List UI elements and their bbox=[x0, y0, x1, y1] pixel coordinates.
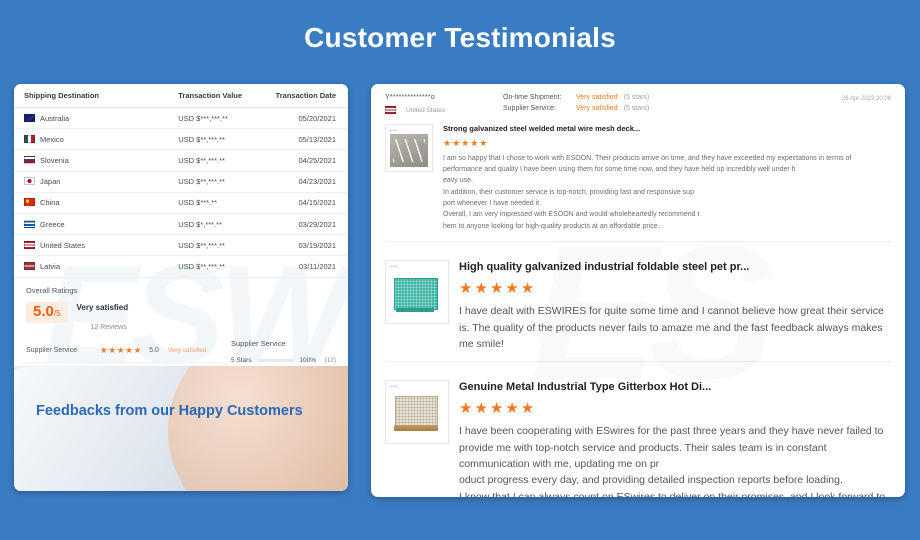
destination-label: United States bbox=[40, 241, 85, 250]
review-score-line: Supplier Service:Very satisfied(5 stars) bbox=[503, 105, 842, 112]
reviewer-name: Y**************o bbox=[385, 94, 503, 101]
review-stars: ★★★★★ bbox=[459, 279, 891, 297]
cell-destination: Mexico bbox=[14, 129, 168, 150]
flag-icon bbox=[24, 262, 35, 270]
cell-destination: Latvia bbox=[14, 256, 168, 277]
left-panel: ESW Shipping Destination Transaction Val… bbox=[14, 84, 348, 491]
table-header-row: Shipping Destination Transaction Value T… bbox=[14, 84, 348, 108]
criterion-score: 5.0 bbox=[149, 347, 159, 354]
product-image bbox=[390, 134, 428, 167]
table-row: GreeceUSD $*,***.**03/29/2021 bbox=[14, 213, 348, 234]
criterion-label: Supplier Service bbox=[26, 347, 100, 354]
review-stars: ★★★★★ bbox=[459, 399, 891, 417]
product-thumbnail[interactable]: esoon bbox=[385, 380, 449, 444]
transactions-table: Shipping Destination Transaction Value T… bbox=[14, 84, 348, 278]
score-summary: 5.0/5 Very satisfied 12 Reviews bbox=[26, 302, 336, 331]
destination-label: Slovenia bbox=[40, 156, 69, 165]
review-content: Strong galvanized steel welded metal wir… bbox=[433, 124, 891, 232]
flag-icon bbox=[24, 198, 35, 206]
cell-destination: Australia bbox=[14, 108, 168, 129]
review-item: esoonGenuine Metal Industrial Type Gitte… bbox=[371, 362, 905, 497]
cell-date: 04/23/2021 bbox=[257, 171, 348, 192]
cell-date: 03/29/2021 bbox=[257, 213, 348, 234]
cell-value: USD $**,***.** bbox=[168, 256, 257, 277]
cell-value: USD $**,***.** bbox=[168, 235, 257, 256]
score-value: Very satisfied bbox=[576, 105, 618, 112]
column-header-date: Transaction Date bbox=[257, 84, 348, 108]
criterion-stars: ★★★★★ bbox=[100, 345, 142, 356]
score-stars-note: (5 stars) bbox=[624, 94, 650, 101]
cell-destination: United States bbox=[14, 235, 168, 256]
score-key: Supplier Service: bbox=[503, 105, 576, 112]
cell-destination: Japan bbox=[14, 171, 168, 192]
cell-date: 03/11/2021 bbox=[257, 256, 348, 277]
destination-label: China bbox=[40, 198, 60, 207]
review-stars: ★★★★★ bbox=[443, 138, 891, 149]
review-body: esoonStrong galvanized steel welded meta… bbox=[385, 124, 891, 232]
table-row: ChinaUSD $***.**04/15/2021 bbox=[14, 192, 348, 213]
photo-caption: Feedbacks from our Happy Customers bbox=[36, 403, 303, 419]
destination-label: Japan bbox=[40, 177, 60, 186]
table-row: AustraliaUSD $***,***.**05/20/2021 bbox=[14, 108, 348, 129]
flag-icon bbox=[385, 106, 396, 114]
cell-value: USD $**,***.** bbox=[168, 150, 257, 171]
flag-icon bbox=[24, 177, 35, 185]
thumbnail-tag: esoon bbox=[389, 128, 397, 132]
cell-destination: Slovenia bbox=[14, 150, 168, 171]
review-text: I am so happy that I chose to work with … bbox=[443, 153, 891, 232]
cell-value: USD $***,***.** bbox=[168, 108, 257, 129]
product-image bbox=[390, 390, 444, 439]
review-header: Y**************oUnited StatesOn-time Shi… bbox=[385, 94, 891, 116]
cell-value: USD $*,***.** bbox=[168, 213, 257, 234]
testimonials-page: Customer Testimonials ESW Shipping Desti… bbox=[0, 0, 920, 540]
review-content: Genuine Metal Industrial Type Gitterbox … bbox=[449, 380, 891, 497]
review-item: Y**************oUnited StatesOn-time Shi… bbox=[371, 84, 905, 232]
cell-date: 04/15/2021 bbox=[257, 192, 348, 213]
page-title: Customer Testimonials bbox=[0, 22, 920, 54]
review-date: 26 Apr 2023 20:06 bbox=[842, 94, 891, 102]
review-scores: On-time Shipment:Very satisfied(5 stars)… bbox=[503, 94, 842, 116]
satisfaction-label: Very satisfied bbox=[77, 303, 141, 312]
review-body: esoonHigh quality galvanized industrial … bbox=[385, 260, 891, 352]
breakdown-count: (12) bbox=[316, 357, 336, 364]
review-score-line: On-time Shipment:Very satisfied(5 stars) bbox=[503, 94, 842, 101]
destination-label: Latvia bbox=[40, 262, 60, 271]
reviewer-info: Y**************oUnited States bbox=[385, 94, 503, 114]
cell-date: 05/20/2021 bbox=[257, 108, 348, 129]
breakdown-row: 5 Stars100%(12) bbox=[231, 354, 336, 368]
score-denominator: /5 bbox=[54, 309, 61, 318]
product-image bbox=[390, 270, 444, 319]
cell-value: USD $***.** bbox=[168, 192, 257, 213]
happy-customers-photo: Feedbacks from our Happy Customers bbox=[14, 366, 348, 491]
table-row: MexicoUSD $**,***.**05/13/2021 bbox=[14, 129, 348, 150]
table-row: LatviaUSD $**,***.**03/11/2021 bbox=[14, 256, 348, 277]
cell-destination: Greece bbox=[14, 213, 168, 234]
reviews-count: 12 Reviews bbox=[77, 314, 141, 331]
table-row: United StatesUSD $**,***.**03/19/2021 bbox=[14, 235, 348, 256]
cell-destination: China bbox=[14, 192, 168, 213]
score-key: On-time Shipment: bbox=[503, 94, 576, 101]
destination-label: Greece bbox=[40, 220, 65, 229]
breakdown-bar-track bbox=[258, 359, 294, 363]
table-row: JapanUSD $**,***.**04/23/2021 bbox=[14, 171, 348, 192]
cell-date: 03/19/2021 bbox=[257, 235, 348, 256]
review-item: esoonHigh quality galvanized industrial … bbox=[371, 242, 905, 352]
criterion-tag: Very satisfied bbox=[168, 347, 207, 354]
cell-value: USD $**,***.** bbox=[168, 171, 257, 192]
flag-icon bbox=[24, 220, 35, 228]
cell-date: 04/25/2021 bbox=[257, 150, 348, 171]
ratings-section-title: Overall Ratings bbox=[26, 286, 336, 295]
thumbnail-tag: esoon bbox=[389, 264, 397, 268]
cell-date: 05/13/2021 bbox=[257, 129, 348, 150]
product-thumbnail[interactable]: esoon bbox=[385, 124, 433, 172]
review-body: esoonGenuine Metal Industrial Type Gitte… bbox=[385, 380, 891, 497]
column-header-value: Transaction Value bbox=[168, 84, 257, 108]
score-value: 5.0 bbox=[33, 303, 54, 320]
flag-icon bbox=[24, 241, 35, 249]
product-title[interactable]: Genuine Metal Industrial Type Gitterbox … bbox=[459, 380, 891, 394]
score-value: Very satisfied bbox=[576, 94, 618, 101]
destination-label: Australia bbox=[40, 114, 69, 123]
score-stars-note: (5 stars) bbox=[624, 105, 650, 112]
flag-icon bbox=[24, 135, 35, 143]
criterion-row: Supplier Service★★★★★5.0Very satisfied bbox=[26, 339, 223, 363]
reviewer-country-label: United States bbox=[406, 107, 445, 114]
breakdown-label: 5 Stars bbox=[231, 357, 258, 364]
product-thumbnail[interactable]: esoon bbox=[385, 260, 449, 324]
review-text: I have dealt with ESWIRES for quite some… bbox=[459, 303, 891, 352]
column-header-destination: Shipping Destination bbox=[14, 84, 168, 108]
thumbnail-tag: esoon bbox=[389, 384, 397, 388]
review-content: High quality galvanized industrial folda… bbox=[449, 260, 891, 352]
flag-icon bbox=[24, 156, 35, 164]
flag-icon bbox=[24, 114, 35, 122]
cell-value: USD $**,***.** bbox=[168, 129, 257, 150]
product-title[interactable]: Strong galvanized steel welded metal wir… bbox=[443, 124, 891, 134]
destination-label: Mexico bbox=[40, 135, 64, 144]
breakdown-title: Supplier Service bbox=[231, 339, 336, 348]
right-panel: ES Y**************oUnited StatesOn-time … bbox=[371, 84, 905, 497]
product-title[interactable]: High quality galvanized industrial folda… bbox=[459, 260, 891, 274]
table-row: SloveniaUSD $**,***.**04/25/2021 bbox=[14, 150, 348, 171]
score-badge: 5.0/5 bbox=[26, 302, 68, 324]
reviewer-country: United States bbox=[385, 106, 503, 114]
review-text: I have been cooperating with ESwires for… bbox=[459, 423, 891, 497]
breakdown-percent: 100% bbox=[294, 357, 316, 364]
